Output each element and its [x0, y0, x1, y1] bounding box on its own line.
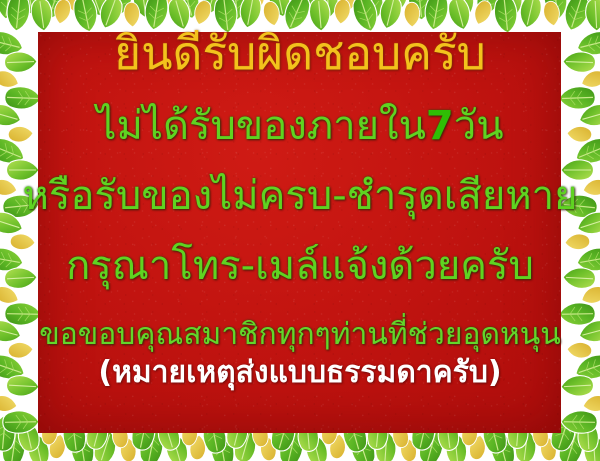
delivery-delay-suffix: วัน	[454, 103, 504, 149]
shipping-note-line: (หมายเหตุส่งแบบธรรมดาครับ)	[0, 358, 600, 388]
headline-line: ยินดีรับผิดชอบครับ	[0, 30, 600, 76]
delivery-delay-line: ไม่ได้รับของภายใน7วัน	[0, 106, 600, 146]
days-count-highlight: 7	[426, 103, 454, 149]
incomplete-damaged-line: หรือรับของไม่ครบ-ชำรุดเสียหาย	[0, 176, 600, 216]
contact-instruction-line: กรุณาโทร-เมล์แจ้งด้วยครับ	[0, 246, 600, 286]
poster-text-block: ยินดีรับผิดชอบครับ ไม่ได้รับของภายใน7วัน…	[0, 0, 600, 461]
thank-you-line: ขอขอบคุณสมาชิกทุกๆท่านที่ช่วยอุดหนุน	[0, 320, 600, 350]
poster-image: ยินดีรับผิดชอบครับ ไม่ได้รับของภายใน7วัน…	[0, 0, 600, 461]
delivery-delay-prefix: ไม่ได้รับของภายใน	[96, 103, 426, 149]
